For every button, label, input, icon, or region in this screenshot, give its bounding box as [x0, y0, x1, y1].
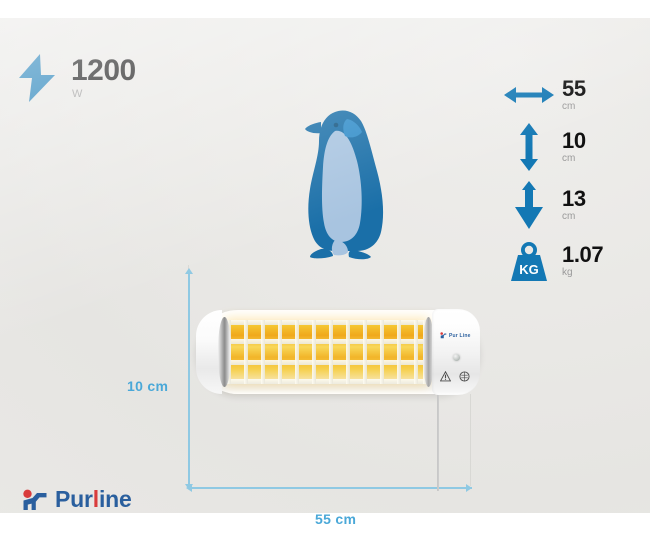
spec-row-height: 10 cm — [503, 119, 637, 175]
heater-glowing-grille — [227, 320, 427, 384]
spec-row-weight: KG 1.07 kg — [503, 235, 637, 287]
heater-control-panel: Pur Line — [432, 309, 480, 395]
arrows-vertical-icon — [503, 123, 555, 171]
spec-width-unit: cm — [562, 101, 586, 113]
svg-text:KG: KG — [519, 262, 539, 277]
spec-weight-text: 1.07 kg — [555, 243, 603, 279]
infrared-heater-illustration: Pur Line — [196, 310, 480, 394]
indicator-led — [453, 354, 460, 361]
power-cord — [437, 392, 439, 491]
width-dimension-line — [190, 487, 472, 489]
spec-height-value: 10 — [562, 129, 586, 152]
spec-width-value: 55 — [562, 77, 586, 100]
arrows-horizontal-icon — [503, 84, 555, 106]
spec-height-unit: cm — [562, 153, 586, 165]
purline-mascot-icon — [22, 489, 48, 511]
power-value: 1200 — [71, 56, 136, 86]
height-dimension-label: 10 cm — [127, 378, 168, 394]
weight-kg-icon: KG — [503, 240, 555, 282]
brand-text-part1: Pur — [55, 486, 93, 512]
spec-depth-unit: cm — [562, 211, 586, 223]
lightning-bolt-icon — [16, 54, 58, 102]
guide-tick-right — [470, 394, 471, 486]
specifications-list: 55 cm 10 cm — [503, 73, 637, 289]
heater-chrome-band-left — [218, 317, 231, 387]
width-arrow-right — [466, 484, 472, 492]
spec-width-text: 55 cm — [555, 77, 586, 113]
gray-background-panel: 1200 W — [0, 18, 650, 513]
do-not-cover-warning-icon — [440, 371, 451, 382]
power-spec-block: 1200 W — [16, 54, 136, 102]
spec-height-text: 10 cm — [555, 129, 586, 165]
penguin-illustration — [291, 101, 401, 261]
purline-wordmark: Purline — [55, 488, 132, 511]
power-values: 1200 W — [71, 54, 136, 101]
infographic-canvas: 1200 W — [0, 0, 650, 551]
panel-brand-text: Pur Line — [449, 333, 471, 339]
spec-weight-value: 1.07 — [562, 243, 603, 266]
spec-depth-value: 13 — [562, 187, 586, 210]
panel-brand-logo: Pur Line — [440, 331, 474, 340]
purline-brand-logo: Purline — [22, 488, 132, 511]
spec-depth-text: 13 cm — [555, 187, 586, 223]
brand-text-part2: ine — [99, 486, 132, 512]
purline-mark-icon — [440, 332, 447, 339]
width-dimension-label: 55 cm — [315, 511, 356, 527]
power-unit: W — [72, 88, 136, 101]
height-arrow-top — [185, 268, 193, 274]
spec-weight-unit: kg — [562, 267, 603, 279]
width-arrow-left — [186, 484, 192, 492]
ip-rating-icon — [459, 371, 470, 382]
height-dimension-line — [188, 270, 190, 488]
arrow-down-icon — [503, 181, 555, 229]
spec-row-depth: 13 cm — [503, 177, 637, 233]
spec-row-width: 55 cm — [503, 73, 637, 117]
